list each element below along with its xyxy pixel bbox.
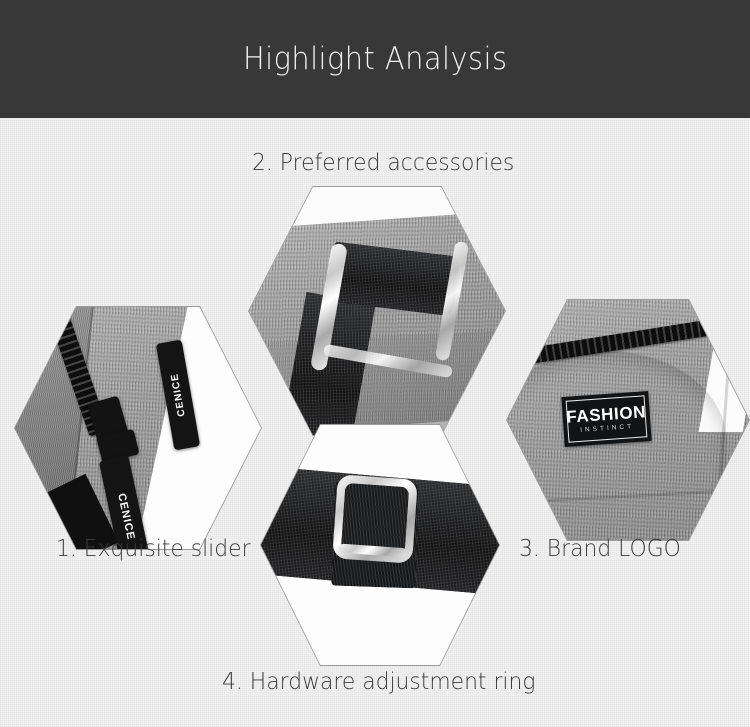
panel-4[interactable]	[261, 425, 499, 665]
fabric-shadow	[249, 330, 505, 435]
page-title: Highlight Analysis	[243, 41, 507, 77]
panel-1-caption: 1. Exquisite slider	[56, 536, 251, 562]
panel-4-caption: 4. Hardware adjustment ring	[222, 669, 535, 695]
panel-3-photo: FASHION INSTINCT	[507, 300, 749, 540]
highlights-stage: 2. Preferred accessories	[0, 118, 750, 727]
panel-2-caption: 2. Preferred accessories	[252, 150, 514, 176]
header-banner: Highlight Analysis	[0, 0, 750, 118]
panel-3[interactable]: FASHION INSTINCT	[507, 300, 749, 540]
zipper-pull-brand-text-secondary: CENICE	[169, 372, 187, 417]
panel-3-caption: 3. Brand LOGO	[519, 536, 681, 562]
bag-panel-shadow	[507, 352, 727, 540]
panel-1-photo: CENICE CENICE	[15, 307, 261, 549]
panel-2[interactable]	[249, 187, 505, 435]
panel-1[interactable]: CENICE CENICE	[15, 307, 261, 549]
zipper-pull-brand-text: CENICE	[115, 492, 137, 541]
metal-adjustment-ring	[332, 474, 418, 563]
panel-4-photo	[261, 425, 499, 665]
panel-2-photo	[249, 187, 505, 435]
brand-logo-patch: FASHION INSTINCT	[561, 391, 651, 447]
